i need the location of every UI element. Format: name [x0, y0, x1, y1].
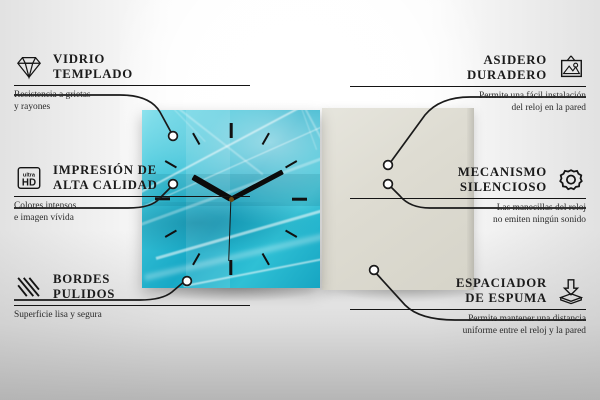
press-down-pad-icon	[556, 277, 586, 305]
feature-description-line: Permite una fácil instalación	[350, 91, 586, 103]
diamond-icon	[14, 53, 44, 81]
feature-title-line: DE ESPUMA	[456, 291, 547, 306]
feature-divider	[14, 85, 250, 86]
feature-title: BORDES PULIDOS	[53, 272, 115, 302]
feature-title-line: VIDRIO	[53, 52, 133, 67]
feature-description-line: uniforme entre el reloj y la pared	[350, 326, 586, 338]
feature-bordes-pulidos: BORDES PULIDOS Superficie lisa y segura	[14, 272, 250, 322]
feature-description-line: Colores intensos	[14, 201, 250, 213]
feature-divider	[350, 309, 586, 310]
feature-description: Resistencia a grietas y rayones	[14, 90, 250, 113]
feature-title-line: PULIDOS	[53, 287, 115, 302]
feature-header: ESPACIADOR DE ESPUMA	[350, 276, 586, 306]
feature-description: Superficie lisa y segura	[14, 310, 250, 322]
feature-description: Las manecillas del reloj no emiten ningú…	[350, 203, 586, 226]
feature-title-line: DURADERO	[467, 68, 547, 83]
feature-description: Colores intensos e imagen vívida	[14, 201, 250, 224]
feature-divider	[14, 196, 250, 197]
feature-header: ultra HD IMPRESIÓN DE ALTA CALIDAD	[14, 163, 250, 193]
hanging-frame-icon	[556, 54, 586, 82]
feature-description-line: Resistencia a grietas	[14, 90, 250, 102]
feature-header: BORDES PULIDOS	[14, 272, 250, 302]
feature-title-line: BORDES	[53, 272, 115, 287]
feature-title-line: TEMPLADO	[53, 67, 133, 82]
feature-title-line: ASIDERO	[467, 53, 547, 68]
feature-title-line: ESPACIADOR	[456, 276, 547, 291]
feature-header: VIDRIO TEMPLADO	[14, 52, 250, 82]
feature-title: VIDRIO TEMPLADO	[53, 52, 133, 82]
polished-edges-icon	[14, 273, 44, 301]
feature-title-line: ALTA CALIDAD	[53, 178, 158, 193]
feature-title: MECANISMO SILENCIOSO	[458, 165, 547, 195]
feature-title: IMPRESIÓN DE ALTA CALIDAD	[53, 163, 158, 193]
feature-description-line: Superficie lisa y segura	[14, 310, 250, 322]
feature-impresion-alta-calidad: ultra HD IMPRESIÓN DE ALTA CALIDAD Color…	[14, 163, 250, 225]
feature-description: Permite una fácil instalación del reloj …	[350, 91, 586, 114]
feature-mecanismo-silencioso: MECANISMO SILENCIOSO Las manecillas del …	[350, 165, 586, 227]
feature-description-line: e imagen vívida	[14, 213, 250, 225]
feature-title-line: IMPRESIÓN DE	[53, 163, 158, 178]
feature-description-line: y rayones	[14, 102, 250, 114]
feature-divider	[350, 86, 586, 87]
ultra-hd-icon: ultra HD	[14, 164, 44, 192]
feature-asidero-duradero: ASIDERO DURADERO Permite una fácil insta…	[350, 53, 586, 115]
feature-title: ASIDERO DURADERO	[467, 53, 547, 83]
feature-title-line: SILENCIOSO	[458, 180, 547, 195]
feature-description-line: Permite mantener una distancia	[350, 314, 586, 326]
feature-description: Permite mantener una distancia uniforme …	[350, 314, 586, 337]
feature-espaciador-de-espuma: ESPACIADOR DE ESPUMA Permite mantener un…	[350, 276, 586, 338]
gear-icon	[556, 166, 586, 194]
feature-description-line: no emiten ningún sonido	[350, 215, 586, 227]
feature-divider	[350, 198, 586, 199]
feature-header: MECANISMO SILENCIOSO	[350, 165, 586, 195]
feature-title: ESPACIADOR DE ESPUMA	[456, 276, 547, 306]
feature-title-line: MECANISMO	[458, 165, 547, 180]
feature-vidrio-templado: VIDRIO TEMPLADO Resistencia a grietas y …	[14, 52, 250, 114]
svg-text:HD: HD	[22, 177, 36, 188]
infographic-canvas: VIDRIO TEMPLADO Resistencia a grietas y …	[0, 0, 600, 400]
feature-description-line: del reloj en la pared	[350, 103, 586, 115]
feature-header: ASIDERO DURADERO	[350, 53, 586, 83]
feature-description-line: Las manecillas del reloj	[350, 203, 586, 215]
feature-divider	[14, 305, 250, 306]
